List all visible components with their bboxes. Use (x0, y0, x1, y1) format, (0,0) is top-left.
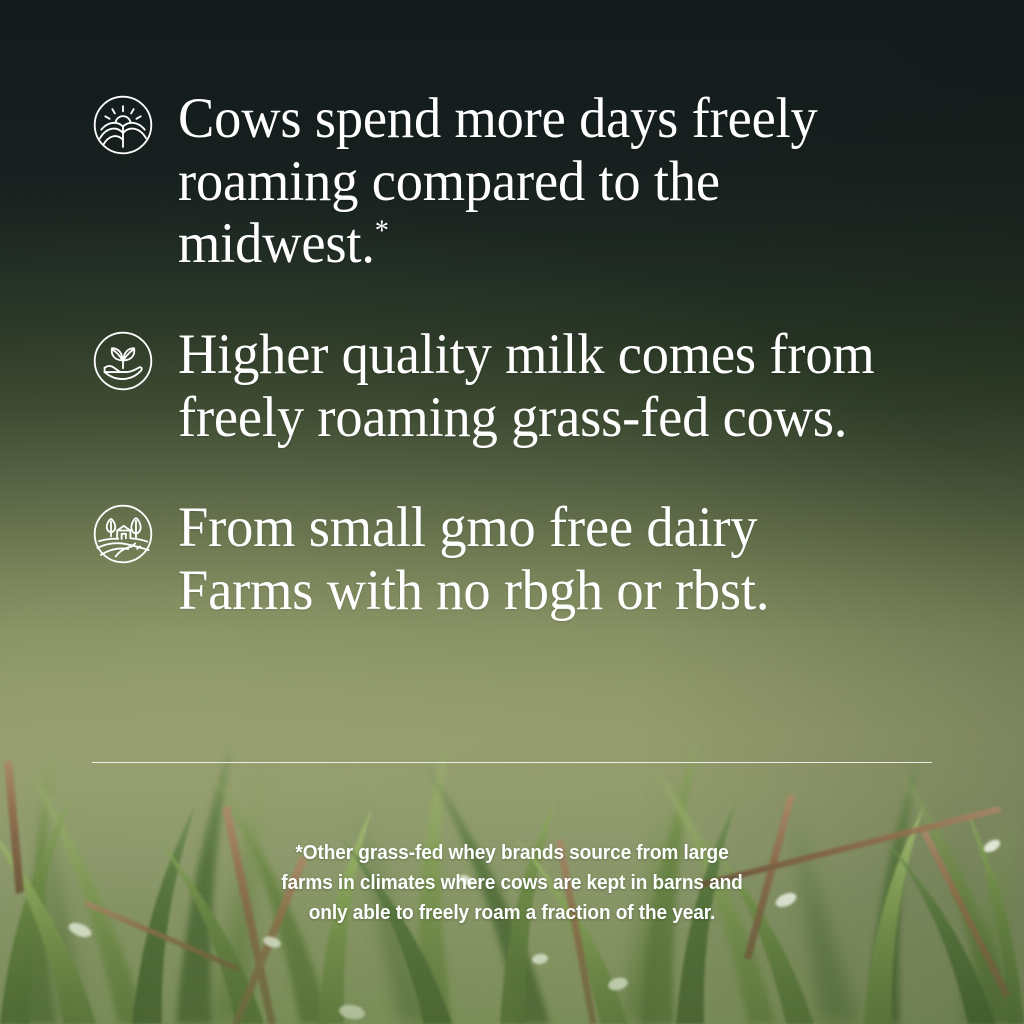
section-divider (92, 762, 932, 763)
sunrise-over-fields-icon (92, 94, 154, 156)
benefits-list: Cows spend more days freely roaming comp… (92, 88, 972, 623)
benefit-text-body: Higher quality milk comes from freely ro… (178, 323, 875, 449)
footnote-line-1: *Other grass-fed whey brands source from… (36, 838, 988, 868)
benefit-item: From small gmo free dairy Farms with no … (92, 497, 972, 622)
hand-holding-sprout-icon (92, 330, 154, 392)
footnote-text: *Other grass-fed whey brands source from… (36, 838, 988, 928)
promo-graphic: Cows spend more days freely roaming comp… (0, 0, 1024, 1024)
benefit-item: Higher quality milk comes from freely ro… (92, 324, 972, 449)
footnote-line-3: only able to freely roam a fraction of t… (36, 898, 988, 928)
benefit-text: Higher quality milk comes from freely ro… (178, 324, 936, 449)
farm-barn-fields-icon (92, 503, 154, 565)
footnote-line-2: farms in climates where cows are kept in… (36, 868, 988, 898)
benefit-text-body: From small gmo free dairy Farms with no … (178, 496, 769, 622)
content-layer: Cows spend more days freely roaming comp… (0, 0, 1024, 1024)
benefit-text-body: Cows spend more days freely roaming comp… (178, 87, 818, 275)
benefit-item: Cows spend more days freely roaming comp… (92, 88, 972, 276)
benefit-text: From small gmo free dairy Farms with no … (178, 497, 866, 622)
benefit-text: Cows spend more days freely roaming comp… (178, 88, 885, 276)
footnote-marker: * (375, 215, 389, 247)
